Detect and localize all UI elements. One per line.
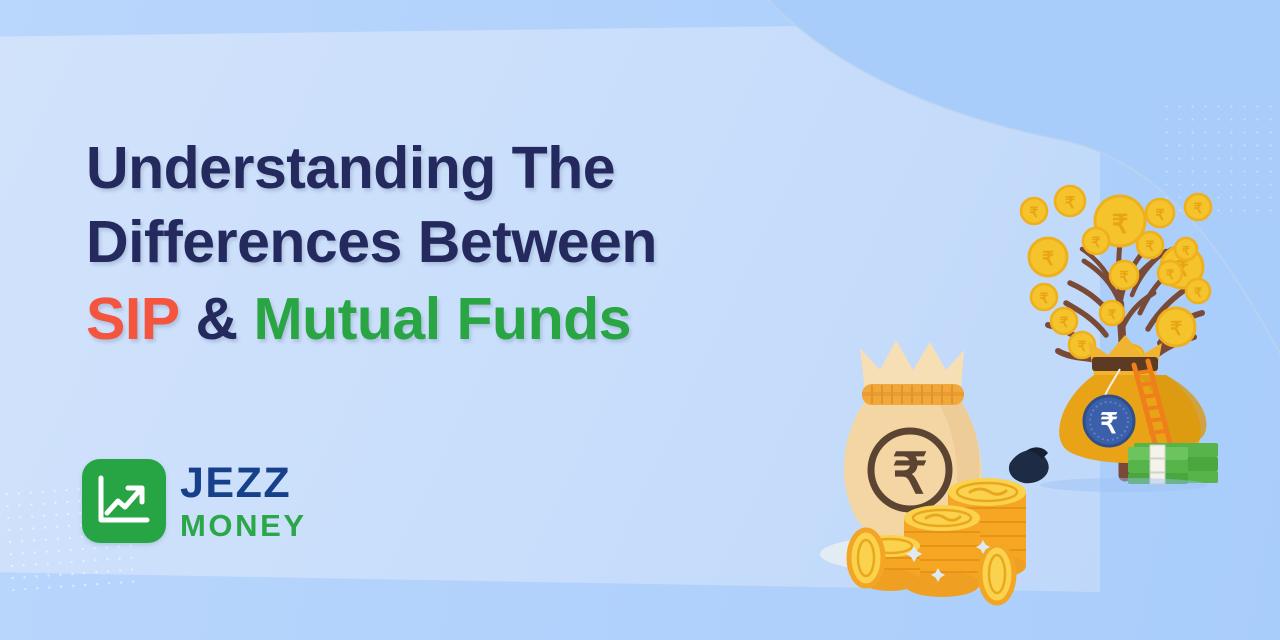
svg-text:₹: ₹ [1166,267,1175,282]
svg-text:₹: ₹ [1042,249,1054,270]
svg-text:₹: ₹ [1108,307,1117,322]
svg-text:₹: ₹ [1194,200,1203,216]
svg-text:₹: ₹ [1030,204,1039,220]
svg-text:₹: ₹ [1194,285,1203,300]
svg-text:₹: ₹ [1092,234,1101,250]
svg-text:₹: ₹ [1170,319,1182,340]
headline-block: Understanding The Differences Between SI… [86,131,876,356]
headline-ampersand: & [196,286,238,352]
svg-text:₹: ₹ [1146,238,1155,254]
money-tree-illustration: ₹ ₹ ₹ ₹ [1008,145,1244,485]
brand-name-primary: JEZZ [180,462,307,505]
svg-text:₹: ₹ [1040,290,1049,306]
svg-text:₹: ₹ [1078,338,1087,354]
headline-line-2: Differences Between [86,205,876,279]
svg-text:₹: ₹ [1060,314,1069,330]
brand-logo[interactable]: JEZZ MONEY [82,459,307,543]
svg-text:₹: ₹ [892,442,928,505]
brand-wordmark: JEZZ MONEY [180,462,307,541]
svg-text:₹: ₹ [1155,207,1165,224]
headline-keyword-sip: SIP [86,286,180,352]
svg-text:₹: ₹ [1100,408,1118,439]
banner-root: Understanding The Differences Between SI… [0,0,1280,640]
svg-text:₹: ₹ [1065,195,1075,212]
growth-chart-arrow-icon [82,459,166,543]
headline-line-1: Understanding The [86,131,876,205]
brand-name-secondary: MONEY [180,510,307,541]
svg-text:₹: ₹ [1112,209,1129,239]
headline-line-3: SIP & Mutual Funds [86,282,876,356]
svg-text:₹: ₹ [1119,269,1129,286]
headline-keyword-mutual-funds: Mutual Funds [254,286,631,352]
svg-text:₹: ₹ [1182,244,1190,258]
